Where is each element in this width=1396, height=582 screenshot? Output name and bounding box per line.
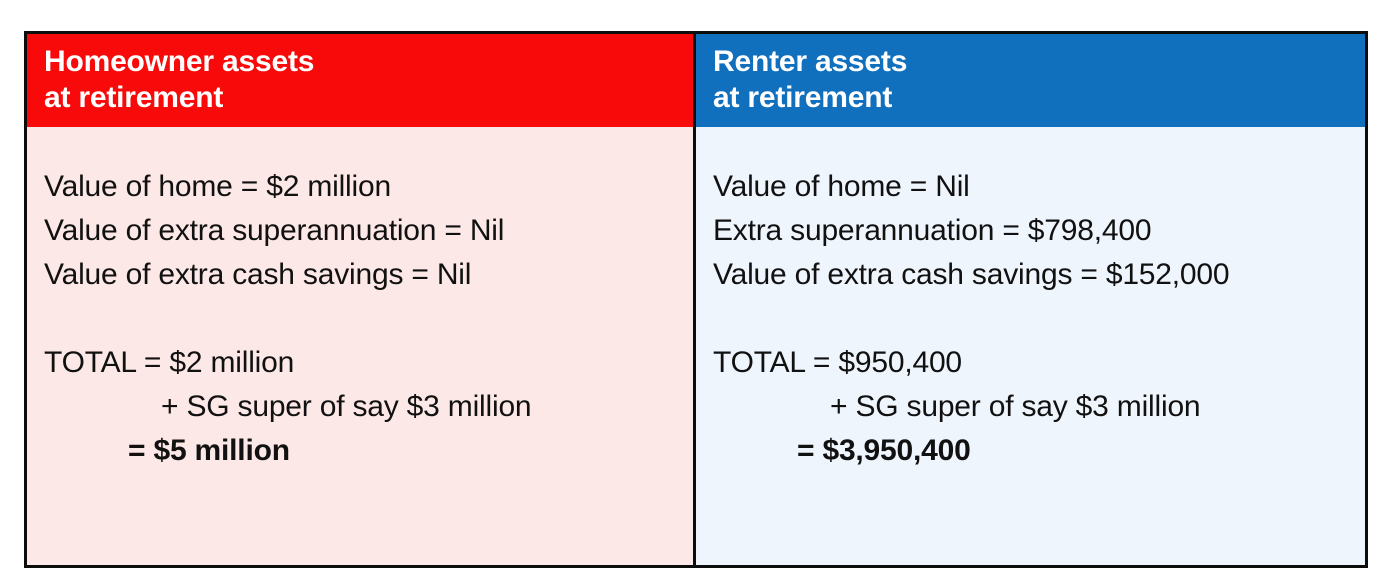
renter-total-plus: + SG super of say $3 million: [713, 385, 1365, 429]
homeowner-column-header: Homeowner assets at retirement: [27, 34, 693, 127]
renter-column-body: Value of home = Nil Extra superannuation…: [696, 127, 1365, 565]
homeowner-total-label: TOTAL = $2 million: [44, 341, 693, 385]
renter-line-home: Value of home = Nil: [713, 165, 1365, 209]
renter-total-result: = $3,950,400: [713, 429, 1365, 473]
homeowner-column: Homeowner assets at retirement Value of …: [27, 34, 696, 565]
homeowner-line-home: Value of home = $2 million: [44, 165, 693, 209]
renter-total-label: TOTAL = $950,400: [713, 341, 1365, 385]
renter-spacer: [713, 297, 1365, 341]
assets-comparison-table: Homeowner assets at retirement Value of …: [24, 31, 1368, 568]
renter-column: Renter assets at retirement Value of hom…: [696, 34, 1365, 565]
renter-column-header: Renter assets at retirement: [696, 34, 1365, 127]
homeowner-total-result: = $5 million: [44, 429, 693, 473]
renter-line-cash: Value of extra cash savings = $152,000: [713, 253, 1365, 297]
homeowner-column-body: Value of home = $2 million Value of extr…: [27, 127, 693, 565]
homeowner-line-cash: Value of extra cash savings = Nil: [44, 253, 693, 297]
renter-line-super: Extra superannuation = $798,400: [713, 209, 1365, 253]
homeowner-line-super: Value of extra superannuation = Nil: [44, 209, 693, 253]
homeowner-spacer: [44, 297, 693, 341]
homeowner-total-plus: + SG super of say $3 million: [44, 385, 693, 429]
